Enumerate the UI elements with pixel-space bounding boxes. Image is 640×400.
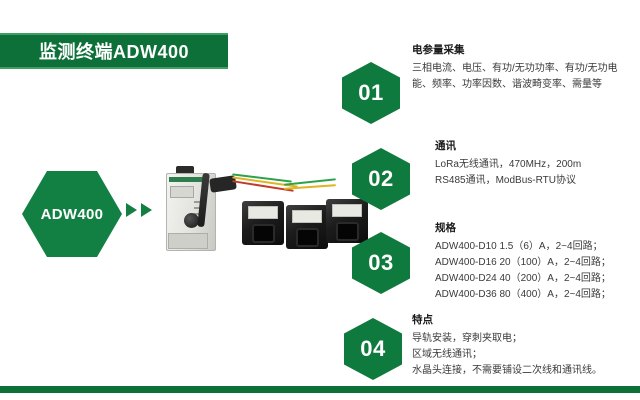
block-line-3-3: ADW400-D24 40（200）A，2~4回路； [435,271,640,287]
ct-label-2 [292,210,322,223]
step-badge-01: 01 [342,62,400,124]
block-line-3-4: ADW400-D36 80（400）A，2~4回路； [435,287,640,303]
feature-block-features: 特点 导轨安装，穿刺夹取电； 区域无线通讯； 水晶头连接，不需要铺设二次线和通讯… [412,314,630,379]
block-line-1-1: 三相电流、电压、有功/无功功率、有功/无功电能、频率、功率因数、谐波畸变率、需量… [412,61,630,93]
double-arrow-right-icon [126,203,152,217]
ct-label-3 [332,204,362,217]
step-badge-04-label: 04 [360,336,385,362]
ct-label-1 [248,206,278,219]
product-hexagon: ADW400 [22,171,122,257]
ct-aperture-3 [336,222,359,241]
current-transformer-3 [326,199,368,243]
arrow-right-icon-1 [126,203,137,217]
step-badge-03-label: 03 [368,250,393,276]
ct-aperture-2 [296,228,319,247]
block-line-4-2: 区域无线通讯； [412,347,630,363]
title-banner: 监测终端ADW400 [0,33,228,69]
block-heading-4: 特点 [412,314,630,327]
ct-aperture-1 [252,224,275,243]
feature-block-communication: 通讯 LoRa无线通讯，470MHz，200m RS485通讯，ModBus-R… [435,140,640,189]
block-line-2-2: RS485通讯，ModBus-RTU协议 [435,173,640,189]
block-line-4-3: 水晶头连接，不需要铺设二次线和通讯线。 [412,363,630,379]
meter-display [170,186,194,198]
feature-block-specifications: 规格 ADW400-D10 1.5（6）A，2~4回路； ADW400-D16 … [435,222,640,303]
block-heading-3: 规格 [435,222,640,235]
step-badge-04: 04 [344,318,402,380]
current-transformer-2 [286,205,328,249]
bottom-accent-bar [0,386,640,393]
page-title: 监测终端ADW400 [39,38,189,64]
block-heading-1: 电参量采集 [412,44,630,57]
product-photo [158,155,338,267]
step-badge-02-label: 02 [368,166,393,192]
meter-green-strip [169,177,205,182]
block-line-4-1: 导轨安装，穿刺夹取电； [412,331,630,347]
block-line-3-2: ADW400-D16 20（100）A，2~4回路； [435,255,640,271]
block-line-2-1: LoRa无线通讯，470MHz，200m [435,157,640,173]
step-badge-01-label: 01 [358,80,383,106]
product-hexagon-label: ADW400 [41,206,104,223]
product-infographic-page: 监测终端ADW400 ADW400 [0,0,640,400]
block-line-3-1: ADW400-D10 1.5（6）A，2~4回路； [435,239,640,255]
arrow-right-icon-2 [141,203,152,217]
current-transformer-1 [242,201,284,245]
meter-terminal-block [168,233,208,249]
block-heading-2: 通讯 [435,140,640,153]
feature-block-electrical-parameters: 电参量采集 三相电流、电压、有功/无功功率、有功/无功电能、频率、功率因数、谐波… [412,44,630,93]
